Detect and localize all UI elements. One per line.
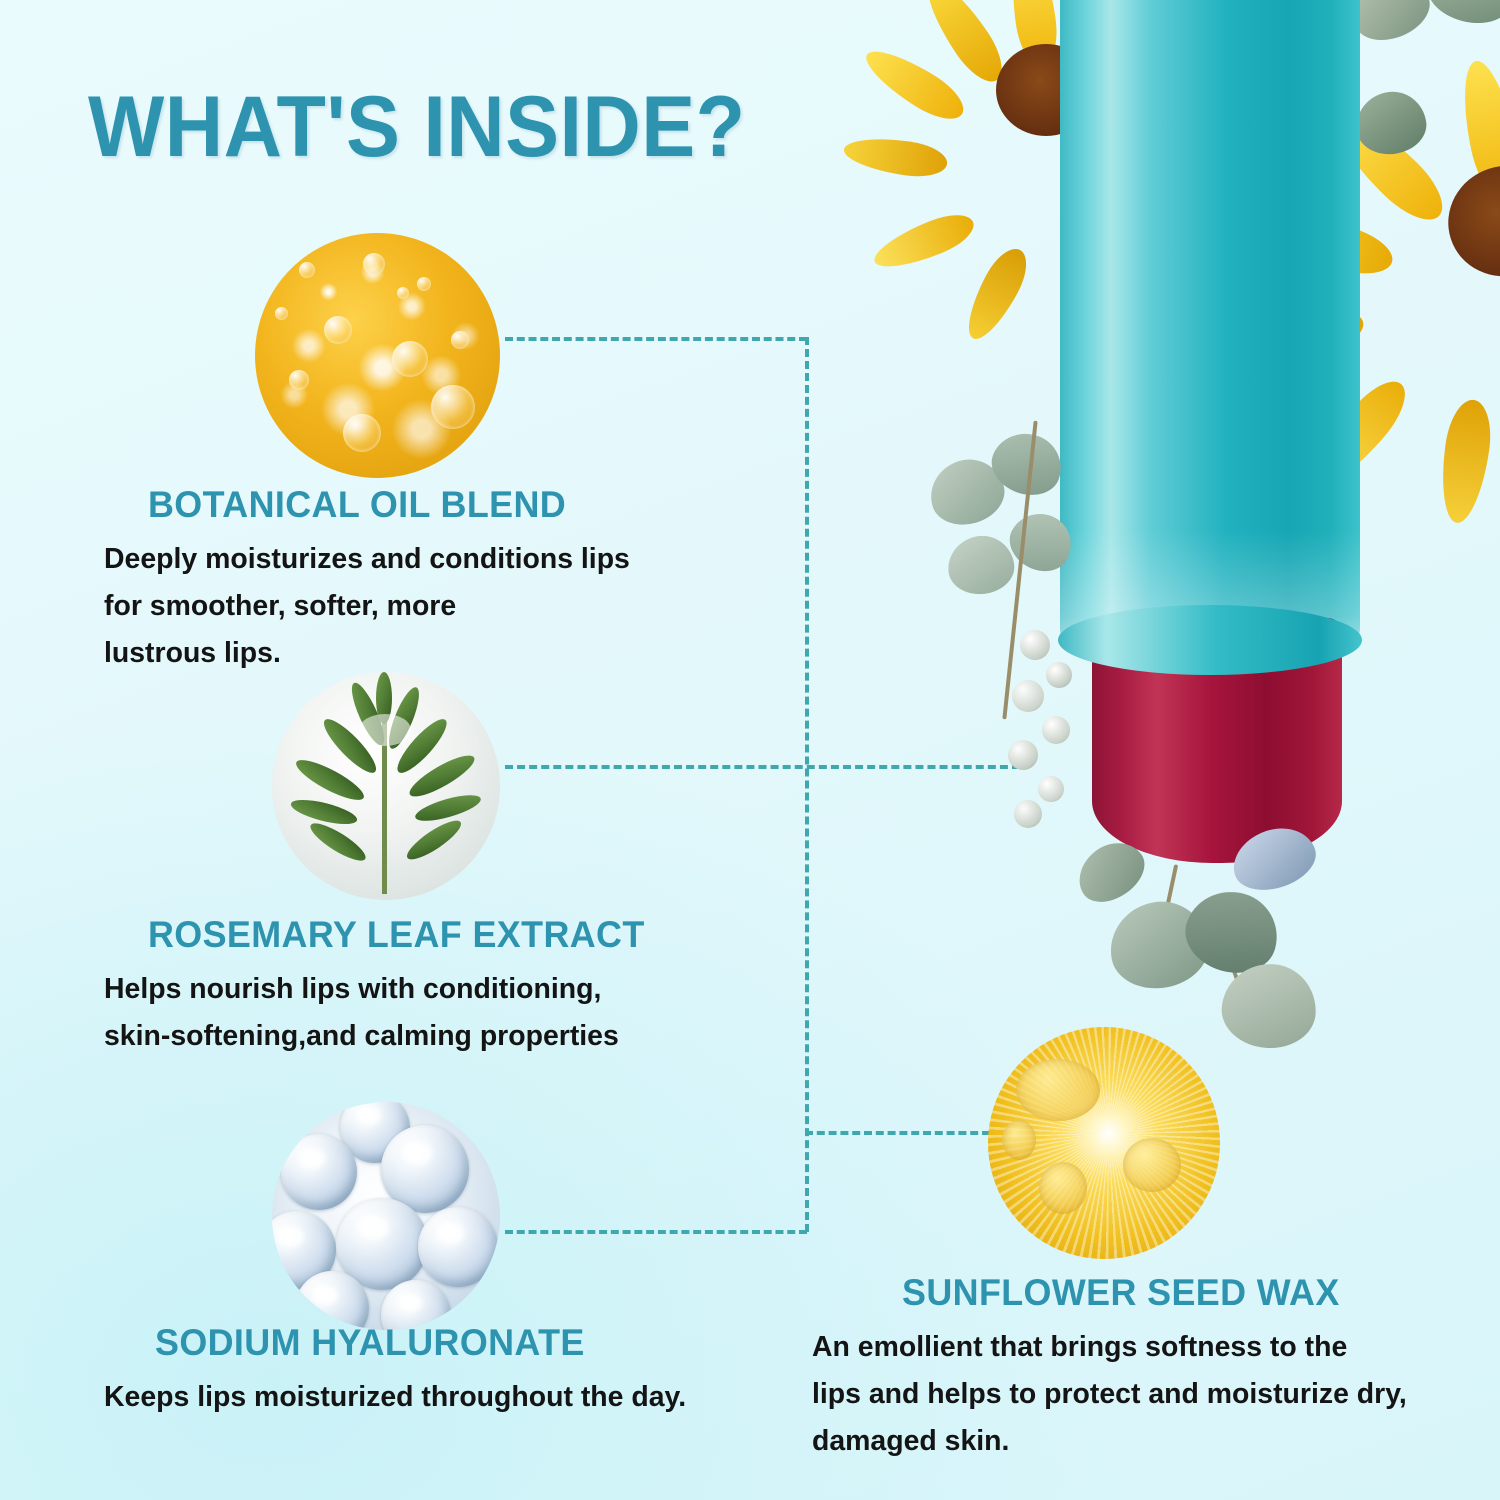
ingredient-body-line: An emollient that brings softness to the <box>812 1324 1407 1371</box>
connector-line-oil <box>505 337 807 341</box>
ingredient-body-line: Helps nourish lips with conditioning, <box>104 966 619 1013</box>
eucalyptus-leaf-right-of-balm <box>1232 830 1342 920</box>
page-title: WHAT'S INSIDE? <box>88 78 746 177</box>
rosemary-sprig-icon <box>272 672 500 900</box>
ingredient-body-sunflower-seed-wax: An emollient that brings softness to the… <box>812 1324 1407 1465</box>
ingredient-body-botanical-oil-blend: Deeply moisturizes and conditions lips f… <box>104 536 630 677</box>
ingredient-body-line: lips and helps to protect and moisturize… <box>812 1371 1407 1418</box>
ingredient-body-sodium-hyaluronate: Keeps lips moisturized throughout the da… <box>104 1374 686 1421</box>
ingredient-heading-sunflower-seed-wax: SUNFLOWER SEED WAX <box>902 1272 1340 1314</box>
ingredient-body-line: Deeply moisturizes and conditions lips <box>104 536 630 583</box>
ingredient-swatch-sodium-hyaluronate <box>272 1102 500 1330</box>
connector-line-wax <box>805 1131 990 1135</box>
ingredient-body-rosemary-leaf-extract: Helps nourish lips with conditioning, sk… <box>104 966 619 1060</box>
ingredient-body-line: skin-softening,and calming properties <box>104 1013 619 1060</box>
ingredient-heading-sodium-hyaluronate: SODIUM HYALURONATE <box>155 1322 585 1364</box>
ingredient-swatch-rosemary-leaf-extract <box>272 672 500 900</box>
ingredient-swatch-botanical-oil-blend <box>255 233 500 478</box>
ingredient-body-line: lustrous lips. <box>104 630 630 677</box>
sunflower-right <box>1340 0 1500 450</box>
ingredient-heading-rosemary-leaf-extract: ROSEMARY LEAF EXTRACT <box>148 914 645 956</box>
ingredient-body-line: Keeps lips moisturized throughout the da… <box>104 1374 686 1421</box>
ingredient-body-line: damaged skin. <box>812 1418 1407 1465</box>
connector-line-vertical <box>805 337 809 1232</box>
ingredient-heading-botanical-oil-blend: BOTANICAL OIL BLEND <box>148 484 566 526</box>
ingredient-body-line: for smoother, softer, more <box>104 583 630 630</box>
connector-line-hyaluronate <box>505 1230 807 1234</box>
infographic-canvas: WHAT'S INSIDE? BOTANICAL OIL BLEND Deepl… <box>0 0 1500 1500</box>
